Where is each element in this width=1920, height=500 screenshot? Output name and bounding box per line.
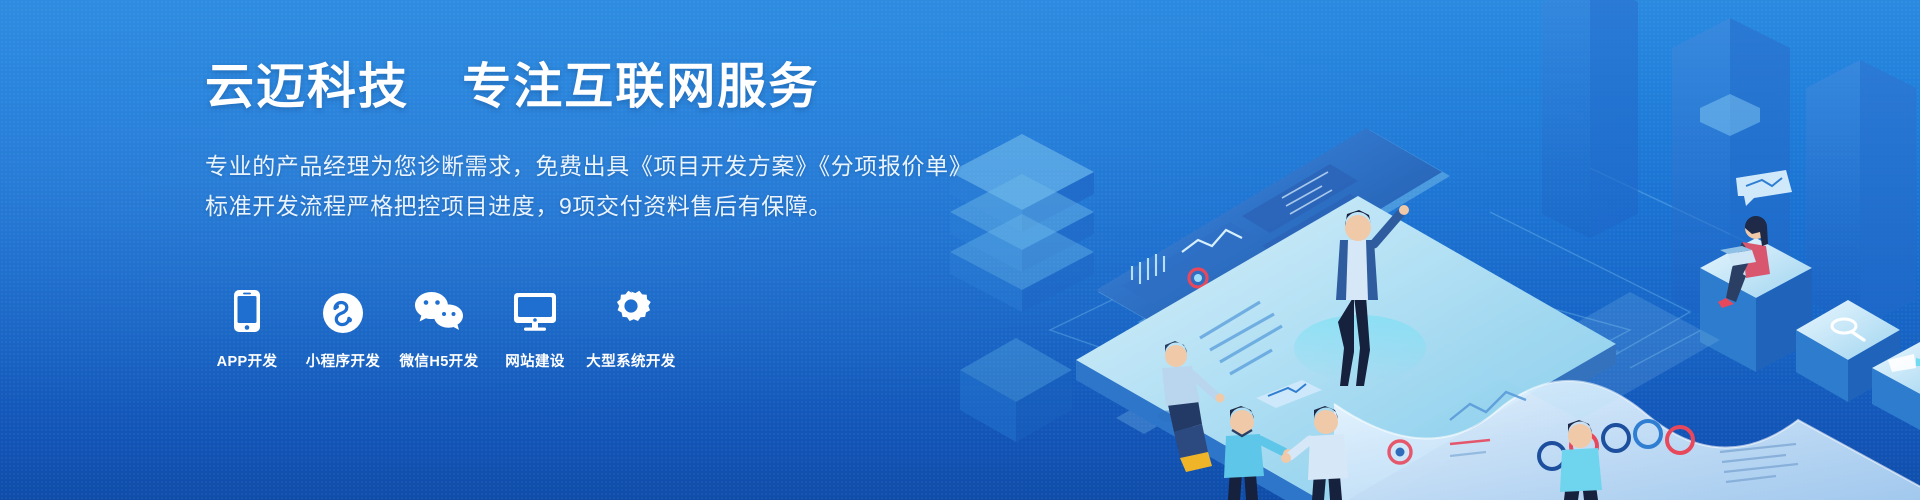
headline-brand: 云迈科技 [205,60,409,114]
service-label: 微信H5开发 [400,350,479,371]
hero-copy: 云迈科技 专注互联网服务 专业的产品经理为您诊断需求，免费出具《项目开发方案》《… [205,62,1105,226]
headline-tagline: 专注互联网服务 [462,60,819,114]
gear-icon [609,288,653,334]
service-label: 大型系统开发 [586,350,675,371]
subtitle-line-1: 专业的产品经理为您诊断需求，免费出具《项目开发方案》《分项报价单》 [205,146,1105,186]
monitor-icon [512,288,558,334]
mini-program-icon [322,288,364,334]
service-label: 小程序开发 [306,350,381,371]
service-item-website[interactable]: 网站建设 [493,288,577,371]
service-item-wechat-h5[interactable]: 微信H5开发 [397,288,481,371]
service-item-large-system[interactable]: 大型系统开发 [589,288,673,371]
mobile-phone-icon [232,288,262,334]
hero-banner: 云迈科技 专注互联网服务 专业的产品经理为您诊断需求，免费出具《项目开发方案》《… [0,0,1920,500]
service-list: APP开发 小程序开发 [205,288,685,371]
hero-subtitle: 专业的产品经理为您诊断需求，免费出具《项目开发方案》《分项报价单》 标准开发流程… [205,146,1105,226]
wechat-icon [412,288,466,334]
service-item-mini-program[interactable]: 小程序开发 [301,288,385,371]
service-label: 网站建设 [505,350,565,371]
service-item-app[interactable]: APP开发 [205,288,289,371]
subtitle-line-2: 标准开发流程严格把控项目进度，9项交付资料售后有保障。 [205,186,1105,226]
service-label: APP开发 [217,350,278,371]
page-title: 云迈科技 专注互联网服务 [205,62,1105,113]
